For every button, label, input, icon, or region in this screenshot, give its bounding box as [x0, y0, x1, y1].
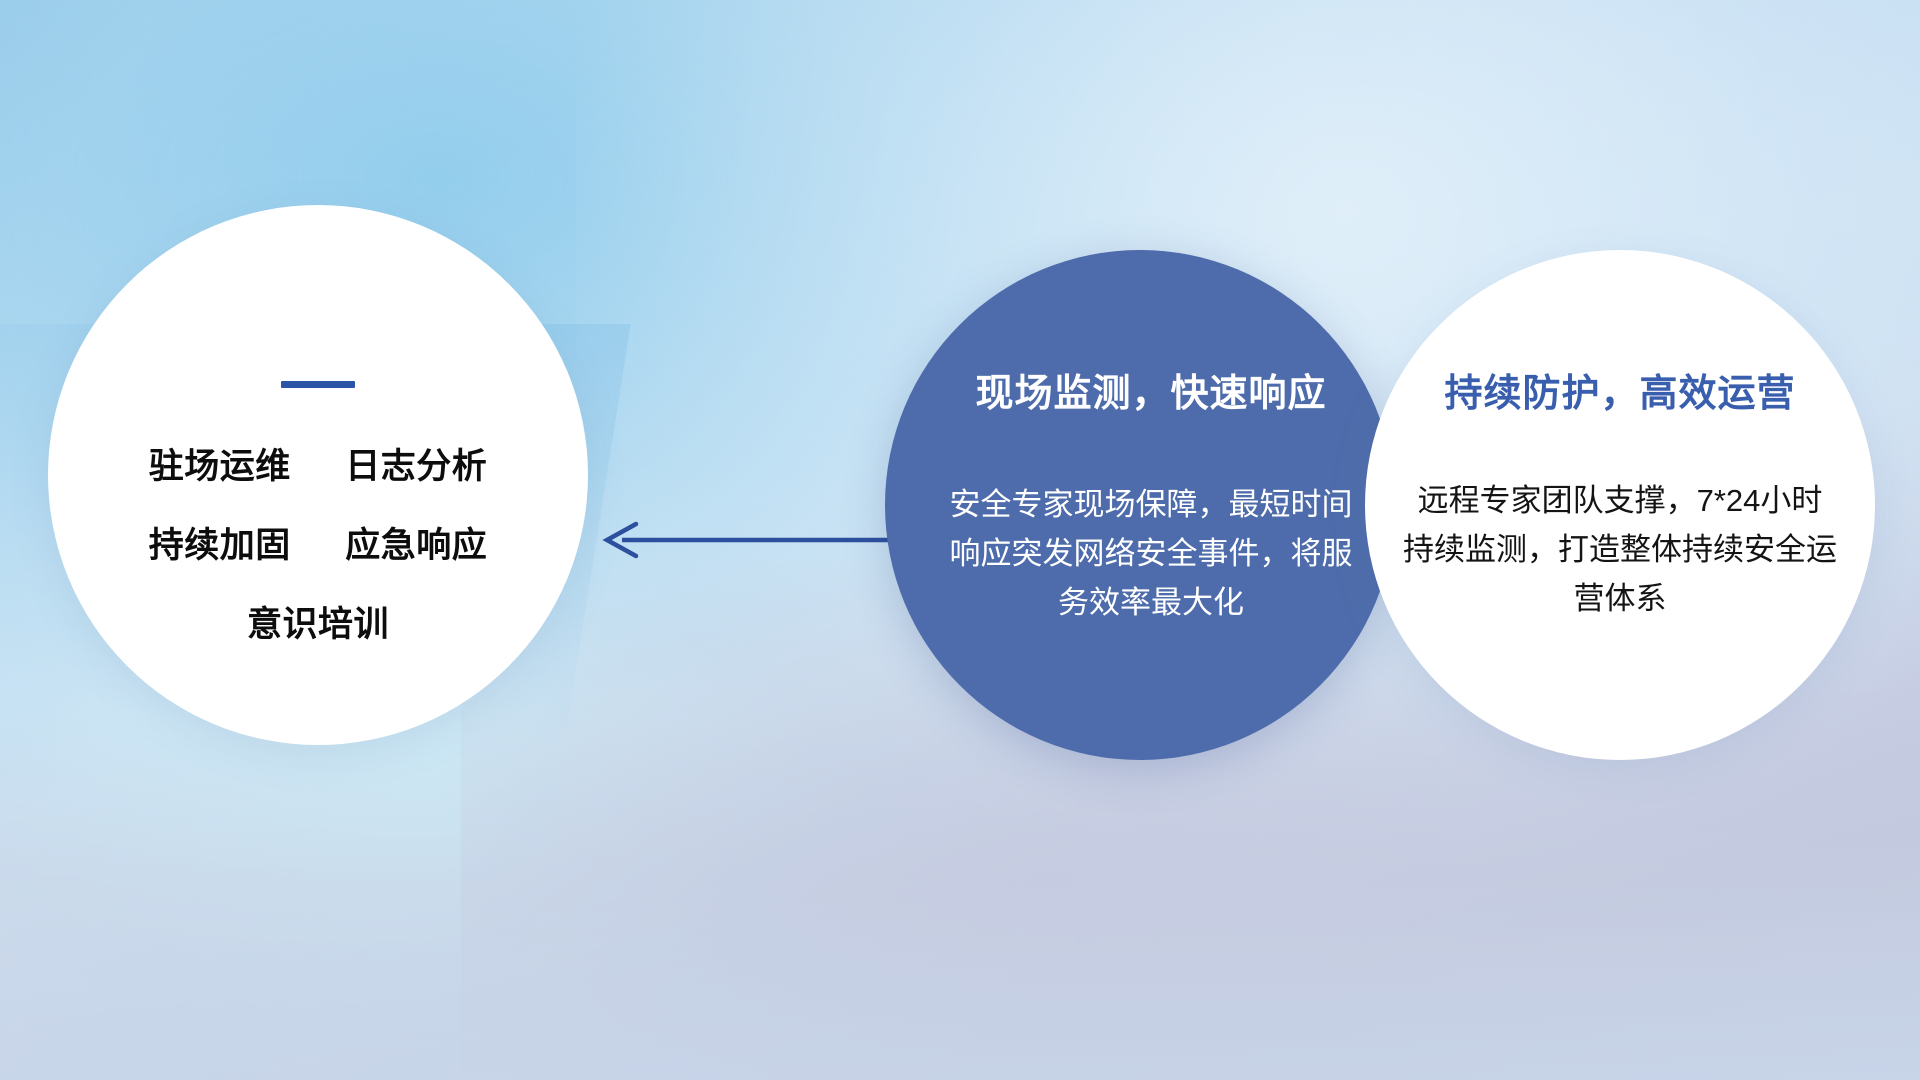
- onsite-monitoring-title: 现场监测，快速响应: [925, 362, 1377, 417]
- onsite-monitoring-body: 安全专家现场保障，最短时间响应突发网络安全事件，将服务效率最大化: [925, 481, 1377, 628]
- continuous-protection-body: 远程专家团队支撑，7*24小时持续监测，打造整体持续安全运营体系: [1389, 477, 1851, 624]
- capability-tags-circle: 驻场运维 日志分析 持续加固 应急响应 意识培训: [48, 205, 588, 745]
- onsite-monitoring-content: 现场监测，快速响应 安全专家现场保障，最短时间响应突发网络安全事件，将服务效率最…: [925, 362, 1377, 628]
- tag-row: 驻场运维 日志分析: [48, 438, 588, 489]
- onsite-monitoring-circle: 现场监测，快速响应 安全专家现场保障，最短时间响应突发网络安全事件，将服务效率最…: [885, 250, 1395, 760]
- tag-label: 应急响应: [345, 526, 487, 565]
- continuous-protection-circle: 持续防护，高效运营 远程专家团队支撑，7*24小时持续监测，打造整体持续安全运营…: [1365, 250, 1875, 760]
- continuous-protection-title: 持续防护，高效运营: [1389, 362, 1851, 417]
- tag-row: 意识培训: [48, 596, 588, 647]
- slide-canvas: 驻场运维 日志分析 持续加固 应急响应 意识培训 现场监测，快速响应 安全专家现…: [0, 0, 1920, 1080]
- tag-label: 持续加固: [149, 526, 291, 565]
- capability-tags-content: 驻场运维 日志分析 持续加固 应急响应 意识培训: [48, 381, 588, 647]
- tag-label: 驻场运维: [149, 447, 291, 486]
- continuous-protection-content: 持续防护，高效运营 远程专家团队支撑，7*24小时持续监测，打造整体持续安全运营…: [1389, 362, 1851, 624]
- background-bottom-fade: [0, 713, 1920, 1080]
- accent-dash-icon: [281, 381, 355, 388]
- tag-label: 日志分析: [345, 447, 487, 486]
- tag-row: 持续加固 应急响应: [48, 517, 588, 568]
- tag-label: 意识培训: [247, 605, 389, 644]
